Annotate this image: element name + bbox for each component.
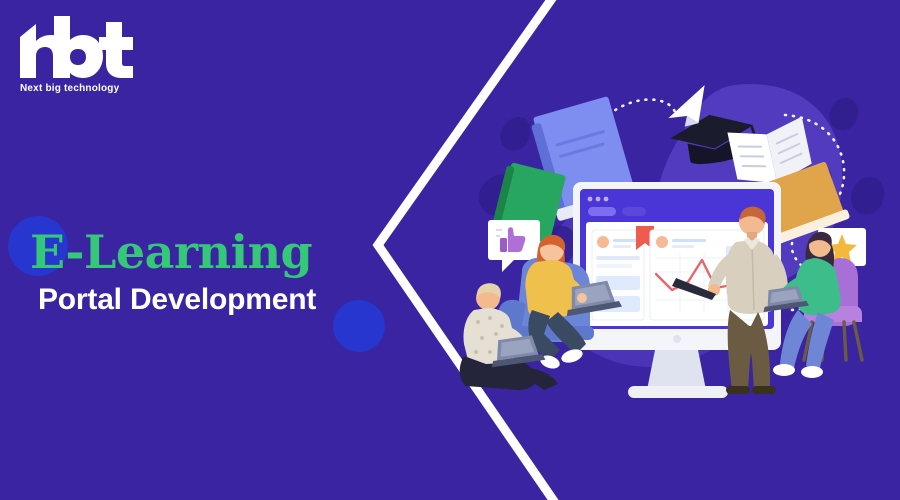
nbt-logo-icon [14,16,134,78]
tab-inactive [622,207,646,216]
banner-root: Next big technology E-Learning Portal De… [0,0,900,500]
page-title-primary: E-Learning [30,228,390,276]
page-title-secondary: Portal Development [38,282,390,318]
logo-tagline: Next big technology [14,83,164,94]
headline-block: E-Learning Portal Development [30,228,390,318]
power-indicator [673,335,681,343]
logo[interactable]: Next big technology [14,16,164,94]
browser-dots [588,197,609,202]
e-learning-illustration [440,60,900,440]
tab-active [588,207,616,216]
